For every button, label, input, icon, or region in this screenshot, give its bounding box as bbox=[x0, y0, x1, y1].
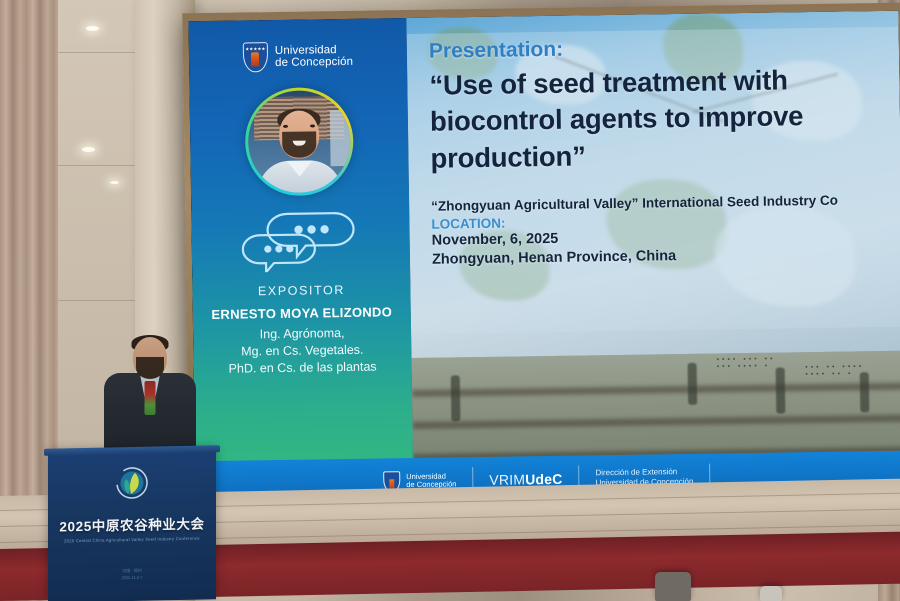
university-lockup: ★★★★★ Universidad de Concepción bbox=[243, 41, 353, 73]
photo-tree bbox=[451, 375, 461, 421]
photo-crop-row bbox=[412, 383, 900, 397]
podium-signage: 2025中原农谷种业大会 2025 Central China Agricult… bbox=[58, 458, 206, 594]
portrait-eye-left bbox=[283, 124, 288, 127]
portrait-eye-right bbox=[310, 124, 315, 127]
podium-subtext: 中国 · 郑州 2025.11.5-7 bbox=[58, 566, 206, 583]
speaker-person bbox=[97, 337, 203, 462]
shield-torch bbox=[251, 52, 259, 66]
photo-birds: ••• •• •••••••• •• • bbox=[805, 363, 864, 378]
wall-seam bbox=[55, 165, 140, 166]
speaker-portrait bbox=[247, 90, 351, 194]
photo-tree bbox=[687, 363, 697, 405]
podium: 2025中原农谷种业大会 2025 Central China Agricult… bbox=[48, 450, 216, 601]
foreground-equipment bbox=[760, 586, 782, 601]
speaker-credentials: Ing. Agrónoma, Mg. en Cs. Vegetales. PhD… bbox=[228, 325, 377, 378]
slide-right-panel: •••• ••• ••••• •••• • ••• •• •••••••• ••… bbox=[406, 11, 900, 504]
title-line-3: production” bbox=[430, 133, 890, 176]
speaker-beard bbox=[136, 357, 164, 379]
wall-seam bbox=[55, 52, 140, 53]
projection-screen: ★★★★★ Universidad de Concepción bbox=[188, 11, 900, 507]
slide-text-content: Presentation: “Use of seed treatment wit… bbox=[406, 11, 900, 270]
projection-screen-frame: ★★★★★ Universidad de Concepción bbox=[182, 3, 900, 514]
speaker-portrait-ring bbox=[244, 87, 354, 197]
speech-bubbles-icon bbox=[241, 209, 360, 273]
podium-title-cn: 2025中原农谷种业大会 bbox=[58, 512, 206, 535]
ceiling-spotlight bbox=[86, 26, 99, 31]
university-name: Universidad de Concepción bbox=[275, 43, 353, 69]
ceiling-spotlight bbox=[110, 181, 119, 184]
expositor-label: EXPOSITOR bbox=[258, 283, 345, 298]
speaker-lanyard bbox=[145, 381, 156, 415]
photo-crop-row bbox=[412, 415, 900, 429]
slide-left-panel: ★★★★★ Universidad de Concepción bbox=[188, 18, 413, 507]
shield-stars: ★★★★★ bbox=[244, 46, 267, 52]
portrait-background-wall bbox=[329, 110, 350, 166]
foreground-equipment bbox=[655, 572, 691, 601]
ceiling-spotlight bbox=[82, 147, 95, 152]
seed-leaf-logo-icon bbox=[109, 464, 155, 505]
presentation-slide: ★★★★★ Universidad de Concepción bbox=[188, 11, 900, 507]
photo-tree bbox=[859, 372, 869, 412]
wall-seam bbox=[55, 300, 140, 301]
speaker-name: ERNESTO MOYA ELIZONDO bbox=[211, 304, 392, 322]
podium-title-en: 2025 Central China Agricultural Valley S… bbox=[58, 535, 206, 543]
conference-photo-scene: ★★★★★ Universidad de Concepción bbox=[0, 0, 900, 601]
udec-shield-icon: ★★★★★ bbox=[243, 42, 268, 72]
presentation-label: Presentation: bbox=[429, 33, 889, 64]
photo-birds: •••• ••• ••••• •••• • bbox=[717, 356, 776, 371]
photo-tree bbox=[776, 367, 786, 413]
